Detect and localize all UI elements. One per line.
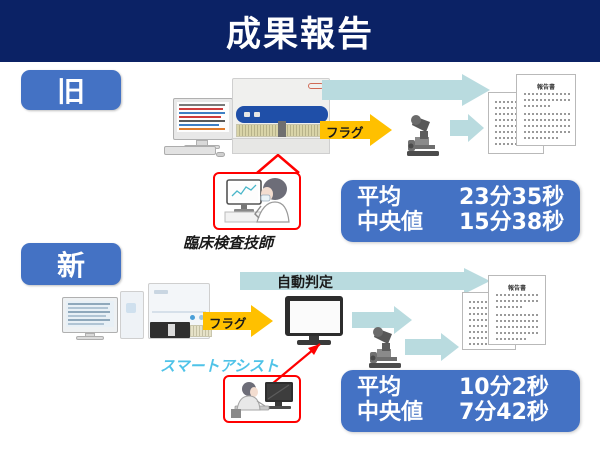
title-bar: 成果報告 <box>0 0 600 62</box>
process-arrow-icon-new-bottom <box>405 333 459 361</box>
section-badge-new-label: 新 <box>57 244 85 284</box>
report-document-title-new: 報告書 <box>489 283 545 292</box>
mouse-icon-old <box>216 152 225 157</box>
stats-label-new-mean: 平均 <box>357 376 459 401</box>
stats-row-old-median: 中央値 15分38秒 <box>357 211 566 236</box>
analyzer-probe-old <box>278 121 286 137</box>
slide-root: 成果報告 旧 <box>0 0 600 451</box>
process-arrow-icon-old-bottom <box>450 114 484 142</box>
stats-row-old-mean: 平均 23分35秒 <box>357 186 566 211</box>
microscope-icon-old <box>400 110 446 158</box>
stats-value-new-median: 7分42秒 <box>459 401 549 426</box>
monitor-base-new <box>76 336 104 340</box>
analyzer-divider-new <box>152 311 206 313</box>
auto-judgement-label: 自動判定 <box>277 272 333 292</box>
stats-box-old: 平均 23分35秒 中央値 15分38秒 <box>341 180 580 242</box>
callout-label-smart-assist: スマートアシスト <box>160 355 279 376</box>
process-arrow-icon-old-top <box>322 74 490 106</box>
microscope-icon-new <box>362 322 408 370</box>
report-document-icon-old: 報告書 <box>488 70 584 158</box>
stats-row-new-median: 中央値 7分42秒 <box>357 401 566 426</box>
analyzer-button-b-old <box>254 112 260 117</box>
analyzer-button-a-old <box>244 112 250 117</box>
section-badge-old: 旧 <box>21 70 121 110</box>
keyboard-icon-old <box>164 146 216 155</box>
stats-label-old-median: 中央値 <box>357 211 459 236</box>
monitor-icon-old <box>173 98 233 140</box>
stats-value-old-median: 15分38秒 <box>459 211 564 236</box>
page-title: 成果報告 <box>0 0 600 62</box>
computer-operator-icon <box>227 379 297 419</box>
analyzer-icon-new <box>62 283 212 341</box>
monitor-screen-new <box>66 301 114 327</box>
flag-arrow-label-old: フラグ <box>326 122 364 141</box>
analyzer-icon-old <box>158 78 330 162</box>
monitor-icon-center-new <box>285 296 347 348</box>
monitor-icon-new <box>62 297 118 333</box>
callout-label-technician: 臨床検査技師 <box>183 232 273 253</box>
section-badge-new: 新 <box>21 243 121 285</box>
analyzer-base-old <box>232 138 330 154</box>
analyzer-slot-new <box>168 324 175 336</box>
report-document-front-new: 報告書 <box>488 275 546 345</box>
analyzer-label-new <box>154 290 168 294</box>
flag-arrow-label-new: フラグ <box>209 313 247 332</box>
callout-pointer-old <box>255 154 301 174</box>
section-badge-old-label: 旧 <box>57 70 85 110</box>
monitor-screen-old <box>177 102 229 132</box>
stats-row-new-mean: 平均 10分2秒 <box>357 376 566 401</box>
stats-label-old-mean: 平均 <box>357 186 459 211</box>
report-document-icon-new: 報告書 <box>462 272 556 356</box>
monitor-frame-center-new <box>285 296 343 336</box>
report-document-front-old: 報告書 <box>516 74 576 146</box>
stats-value-old-mean: 23分35秒 <box>459 186 564 211</box>
lab-technician-icon <box>217 176 297 226</box>
stats-box-new: 平均 10分2秒 中央値 7分42秒 <box>341 370 580 432</box>
analyzer-tower-new <box>120 291 144 339</box>
stats-value-new-mean: 10分2秒 <box>459 376 549 401</box>
stats-label-new-median: 中央値 <box>357 401 459 426</box>
analyzer-tower-panel-new <box>126 303 136 313</box>
monitor-screen-center-new <box>290 301 340 333</box>
analyzer-status-led-new <box>190 315 195 320</box>
report-document-title-old: 報告書 <box>517 82 575 91</box>
